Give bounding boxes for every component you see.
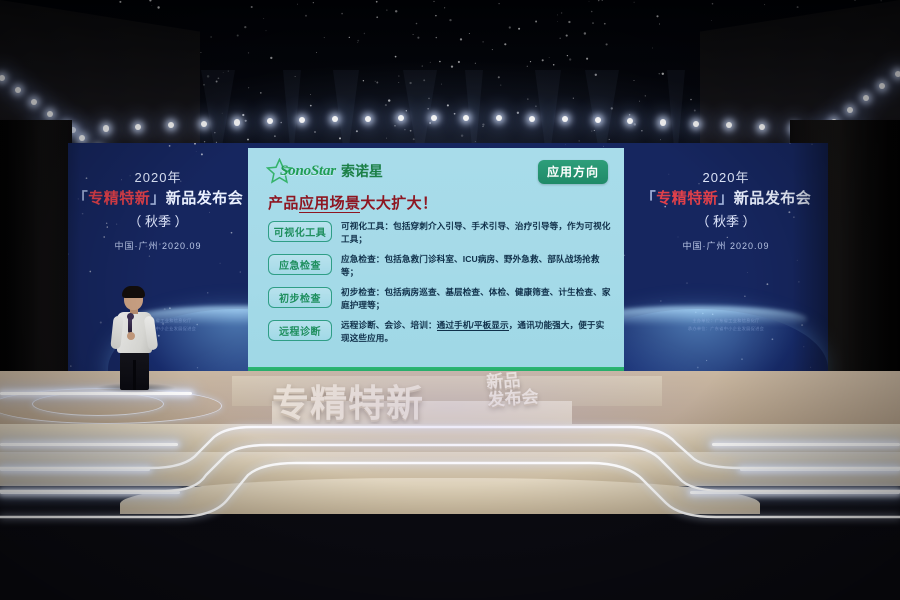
slide-headline: 产品应用场景大大扩大！	[268, 192, 437, 213]
panel-right-rest: 新品发布会	[734, 190, 812, 207]
panel-right-city-date: 中国·广州 2020.09	[624, 239, 828, 252]
speaker-figure	[105, 288, 165, 388]
row-tag: 可视化工具	[268, 221, 332, 242]
panel-left-season: （ 秋季 ）	[68, 211, 248, 230]
slide-rows: 可视化工具 可视化工具：包括穿刺介入引导、手术引导、治疗引导等，作为可视化工具；…	[268, 220, 612, 353]
microphone-icon	[128, 317, 132, 333]
row-tag: 远程诊断	[268, 320, 332, 341]
row-description: 远程诊断、会诊、培训：通过手机/平板显示，通讯功能强大，便于实现这些应用。	[341, 319, 612, 345]
panel-right-year: 2020年	[624, 167, 828, 186]
spotlight	[201, 121, 207, 127]
panel-right-credit-1: 主办单位：广东省工业和信息化厅	[624, 317, 828, 325]
row-tag: 初步检查	[268, 287, 332, 308]
panel-left-bracket-close: 」	[150, 190, 166, 207]
panel-right-credits: 主办单位：广东省工业和信息化厅 承办单位：广东省中小企业发展促进会	[624, 317, 828, 333]
panel-left-year: 2020年	[68, 167, 248, 186]
spotlight	[693, 121, 699, 127]
spotlight	[759, 124, 765, 130]
panel-left-title: 「专精特新」新品发布会	[68, 187, 248, 208]
spotlight	[529, 116, 535, 122]
row-tag: 应急检查	[268, 254, 332, 275]
headline-post: 大大扩大！	[360, 195, 437, 212]
presentation-slide: SonoStar 索诺星 应用方向 产品应用场景大大扩大！ 可视化工具 可视化工…	[248, 148, 624, 367]
row-desc-underlined: 通过手机/平板显示	[437, 320, 509, 331]
spotlight	[595, 117, 601, 123]
spotlight	[895, 71, 900, 78]
spotlight	[365, 116, 371, 122]
stage-photo: 2020年 「专精特新」新品发布会 （ 秋季 ） 中国·广州 2020.09 主…	[0, 0, 900, 600]
spotlight	[234, 119, 240, 125]
speaker-hand	[127, 332, 135, 340]
headline-pre: 产品	[268, 195, 299, 212]
panel-right-highlight: 专精特新	[656, 190, 718, 207]
slide-row: 应急检查 应急检查：包括急救门诊科室、ICU病房、野外急救、部队战场抢救等；	[268, 253, 612, 279]
led-strip-curves	[0, 371, 900, 600]
panel-right-credit-2: 承办单位：广东省中小企业发展促进会	[624, 325, 828, 333]
speaker-legs	[120, 351, 149, 390]
spotlight	[431, 115, 437, 121]
spotlight	[660, 119, 666, 125]
panel-right-bracket-close: 」	[718, 190, 734, 207]
application-direction-badge: 应用方向	[538, 160, 608, 184]
row-description: 初步检查：包括病房巡查、基层检查、体检、健康筛查、计生检查、家庭护理等；	[341, 286, 612, 312]
wall-panel-right: 2020年 「专精特新」新品发布会 （ 秋季 ） 中国·广州 2020.09 主…	[624, 143, 828, 371]
brand-name-cn: 索诺星	[341, 161, 383, 181]
spotlight	[267, 118, 273, 124]
spotlight	[103, 125, 109, 131]
slide-row: 初步检查 初步检查：包括病房巡查、基层检查、体检、健康筛查、计生检查、家庭护理等…	[268, 286, 612, 312]
panel-right-bracket-open: 「	[641, 190, 657, 207]
row-description: 应急检查：包括急救门诊科室、ICU病房、野外急救、部队战场抢救等；	[341, 253, 612, 279]
slide-row: 远程诊断 远程诊断、会诊、培训：通过手机/平板显示，通讯功能强大，便于实现这些应…	[268, 319, 612, 345]
panel-right-title: 「专精特新」新品发布会	[624, 187, 828, 208]
sonostar-logo: SonoStar 索诺星	[266, 158, 383, 184]
panel-left-highlight: 专精特新	[88, 190, 150, 207]
row-description: 可视化工具：包括穿刺介入引导、手术引导、治疗引导等，作为可视化工具；	[341, 220, 612, 246]
brand-name-en: SonoStar	[280, 163, 336, 180]
panel-right-season: （ 秋季 ）	[624, 211, 828, 230]
panel-left-rest: 新品发布会	[166, 190, 244, 207]
row-desc-pre: 远程诊断、会诊、培训：	[341, 320, 437, 330]
speaker-hair	[122, 286, 145, 298]
slide-row: 可视化工具 可视化工具：包括穿刺介入引导、手术引导、治疗引导等，作为可视化工具；	[268, 220, 612, 246]
headline-underlined: 应用场景	[299, 195, 361, 213]
panel-left-bracket-open: 「	[73, 190, 89, 207]
panel-left-city-date: 中国·广州 2020.09	[68, 239, 248, 252]
